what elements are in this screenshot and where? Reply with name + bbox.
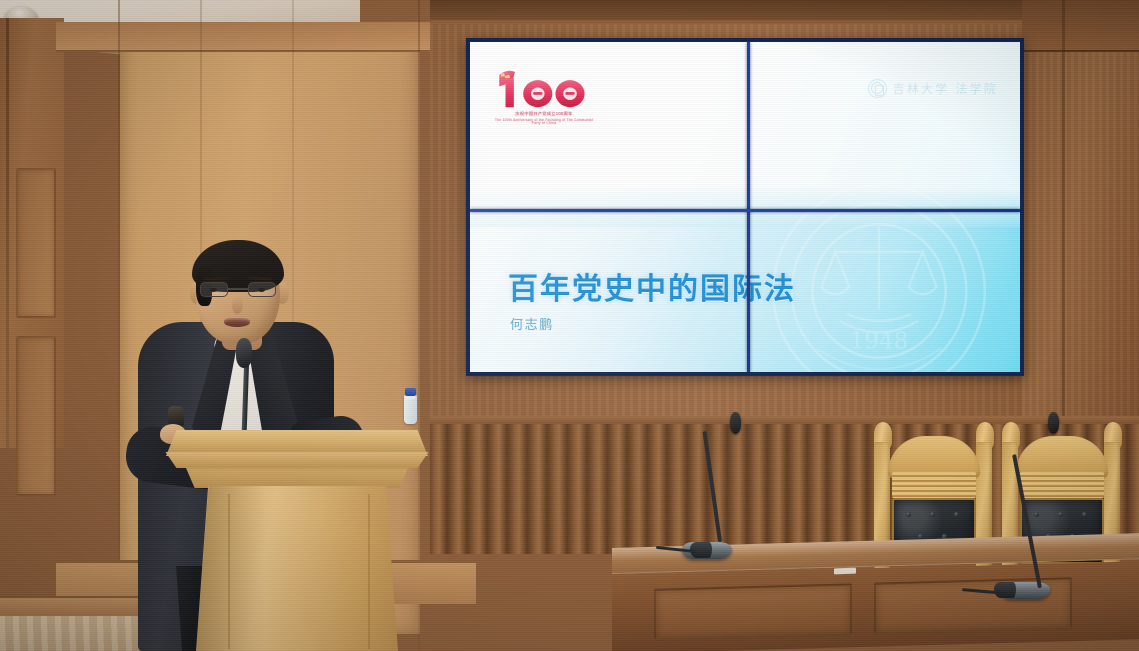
university-seal-icon (868, 79, 887, 98)
cpc-logo-subtitle-en: The 100th Anniversary of the Founding of… (492, 119, 596, 126)
presentation-slide: 1948 (470, 42, 1020, 372)
video-wall-display[interactable]: 1948 (466, 38, 1024, 376)
wall-panel-inset (16, 336, 56, 496)
right-wall-header (1022, 0, 1139, 52)
video-wall-seam-vertical (747, 42, 750, 372)
wall-seam (418, 0, 420, 651)
podium-microphone-head (236, 338, 252, 368)
podium-lip (160, 452, 434, 468)
speaker-eye-left (210, 288, 217, 292)
bench-microphone-right-head (1048, 412, 1059, 434)
bench-microphone-center-head (730, 412, 741, 434)
university-emblem-watermark: 1948 (764, 176, 994, 372)
speaker-nose (232, 296, 243, 314)
slide-title: 百年党史中的国际法 (508, 264, 796, 308)
chair-slats (892, 472, 976, 498)
podium-neck (178, 466, 416, 488)
bench-microphone-right-body (994, 582, 1016, 598)
water-bottle-cap (405, 388, 416, 396)
cpc-centenary-logo-icon: 庆祝中国共产党成立100周年 The 100th Anniversary of … (492, 66, 596, 128)
video-wall-screen: 1948 (470, 42, 1020, 372)
bench-front-panel (612, 561, 1139, 651)
svg-text:1948: 1948 (850, 329, 909, 355)
slide-header: 庆祝中国共产党成立100周年 The 100th Anniversary of … (470, 42, 1020, 194)
paper-on-bench (834, 568, 856, 575)
wall-header-band (56, 22, 486, 52)
university-wordmark-text: 吉林大学 法学院 (893, 80, 998, 97)
speaker-eye-right (258, 288, 265, 292)
university-wordmark: 吉林大学 法学院 (868, 78, 998, 98)
right-wall (1022, 0, 1139, 448)
slide-author: 何志鹏 (510, 314, 554, 333)
speaker-mouth (224, 318, 250, 327)
cpc-logo-subtitle-cn: 庆祝中国共产党成立100周年 (492, 112, 596, 116)
video-wall-seam-horizontal (470, 209, 1020, 212)
wall-seam (118, 0, 120, 651)
bench-panel-inset (654, 583, 852, 641)
left-wall-wing (0, 18, 64, 448)
wall-panel-inset (16, 168, 56, 318)
lecture-hall-photo: 1948 (0, 0, 1139, 651)
chair-slats (1020, 472, 1104, 498)
wall-seam (1062, 0, 1065, 448)
